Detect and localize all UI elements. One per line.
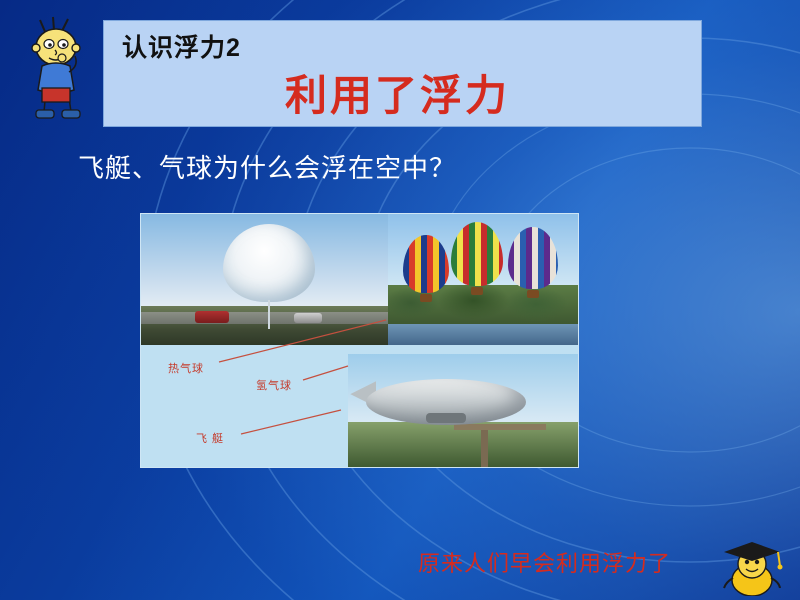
title-subtitle: 认识浮力2 — [122, 28, 241, 64]
illustration-group: 热气球 氢气球 飞 艇 — [140, 213, 579, 468]
label-hydrogen-balloon: 氢气球 — [256, 377, 292, 393]
graduate-mascot-icon — [718, 534, 788, 596]
question-text: 飞艇、气球为什么会浮在空中？ — [78, 148, 456, 185]
page-title: 利用了浮力 — [285, 62, 510, 123]
cartoon-boy-icon — [22, 14, 96, 126]
slide-canvas: 认识浮力2 利用了浮力 飞艇、气球为什么会浮在空中？ — [0, 0, 800, 600]
label-hot-air-balloon: 热气球 — [168, 360, 204, 376]
label-airship: 飞 艇 — [196, 430, 224, 446]
summary-text: 原来人们早会利用浮力了 — [418, 546, 671, 578]
